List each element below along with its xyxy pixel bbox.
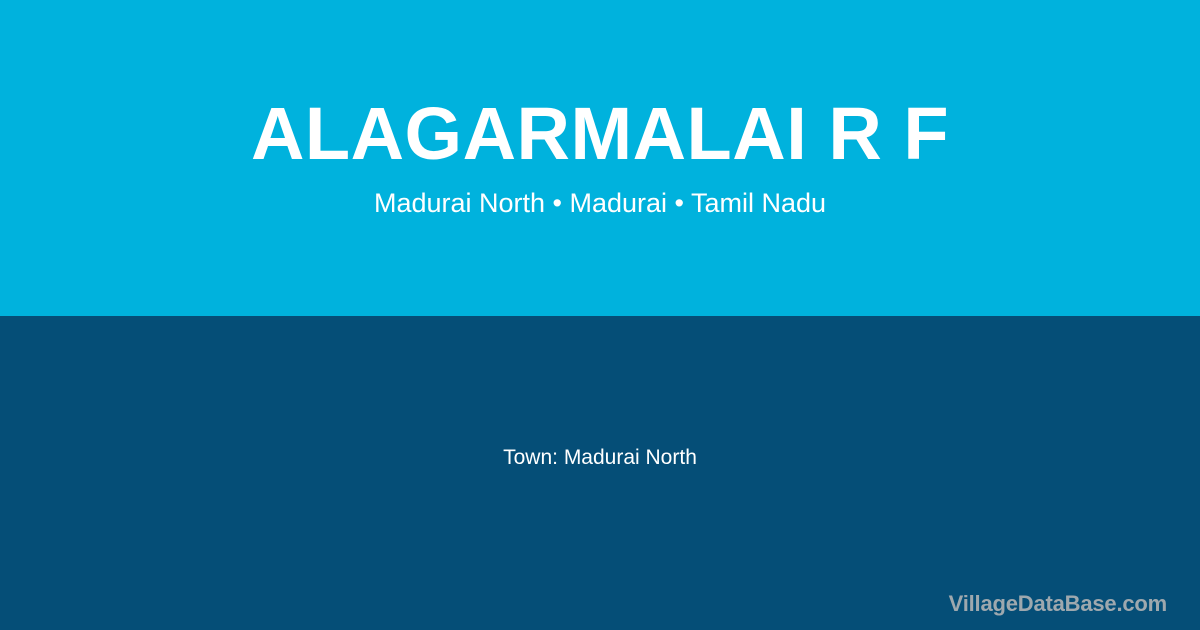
site-watermark: VillageDataBase.com (949, 591, 1167, 617)
location-breadcrumb: Madurai North • Madurai • Tamil Nadu (374, 187, 826, 219)
page-title: ALAGARMALAI R F (251, 96, 949, 173)
details-section: Town: Madurai North VillageDataBase.com (0, 316, 1200, 630)
town-detail: Town: Madurai North (503, 444, 697, 471)
place-info-card: ALAGARMALAI R F Madurai North • Madurai … (0, 0, 1200, 630)
hero-banner: ALAGARMALAI R F Madurai North • Madurai … (0, 0, 1200, 316)
